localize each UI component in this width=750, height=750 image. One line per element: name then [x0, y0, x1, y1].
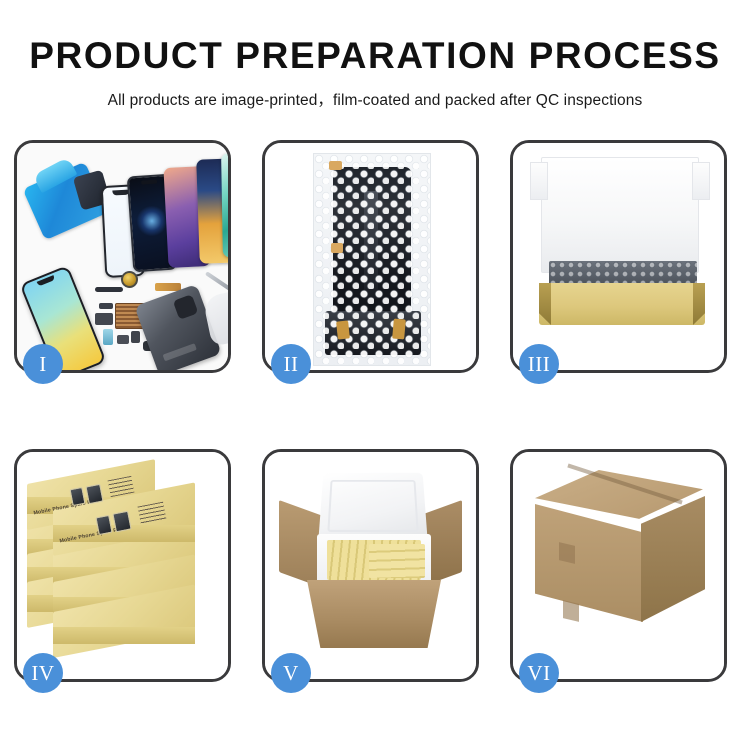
- step-panel-3[interactable]: III: [510, 140, 727, 373]
- step-panel-2[interactable]: II: [262, 140, 479, 373]
- stacked-box-front-3: [53, 612, 195, 644]
- box-side-face: [53, 627, 195, 644]
- flex-cable-part-3: [95, 313, 113, 325]
- box-label-screen-a2: [85, 484, 103, 505]
- step-badge-4: IV: [23, 653, 63, 693]
- step-panel-5[interactable]: V: [262, 449, 479, 682]
- carton-right-face: [641, 496, 705, 622]
- tape-piece-3: [336, 320, 350, 339]
- bar-part: [95, 287, 123, 292]
- chip-part-7: [99, 303, 113, 309]
- page-subtitle: All products are image-printed，film-coat…: [0, 88, 750, 110]
- infographic-page: PRODUCT PREPARATION PROCESS All products…: [0, 0, 750, 750]
- carton-tape-1: [559, 542, 575, 564]
- step-panel-6[interactable]: VI: [510, 449, 727, 682]
- chip-part-4: [103, 329, 113, 345]
- step-image-2: [265, 143, 476, 370]
- step-image-5: [265, 452, 476, 679]
- step-badge-2: II: [271, 344, 311, 384]
- step-panel-4[interactable]: Mobile Phone Spare Parts Mobile Phone Sp…: [14, 449, 231, 682]
- header: PRODUCT PREPARATION PROCESS All products…: [0, 36, 750, 110]
- step-badge-5: V: [271, 653, 311, 693]
- tape-piece-4: [392, 319, 406, 340]
- step-image-6: [513, 452, 724, 679]
- box-lid-white: [541, 157, 699, 273]
- step-image-4: Mobile Phone Spare Parts Mobile Phone Sp…: [17, 452, 228, 679]
- step-panel-1[interactable]: I: [14, 140, 231, 373]
- foam-cooler-lid: [318, 473, 427, 540]
- carton-front-panel: [307, 580, 441, 648]
- phone-teal: [221, 153, 228, 258]
- box-label-screen-b2: [112, 511, 131, 533]
- box-front-kraft: [539, 283, 705, 325]
- step-badge-6: VI: [519, 653, 559, 693]
- step-badge-3: III: [519, 344, 559, 384]
- carton-left-face: [535, 504, 643, 622]
- box-stack: Mobile Phone Spare Parts Mobile Phone Sp…: [23, 466, 223, 666]
- chip-part-3: [117, 335, 129, 344]
- process-grid: I II III: [14, 140, 736, 692]
- step-image-3: [513, 143, 724, 370]
- packed-yellow-boxes-2: [369, 544, 425, 578]
- page-title: PRODUCT PREPARATION PROCESS: [0, 36, 750, 77]
- step-image-1: [17, 143, 228, 370]
- carton-tape-2: [563, 600, 579, 622]
- tape-piece-2: [331, 243, 343, 253]
- step-badge-1: I: [23, 344, 63, 384]
- chip-part-2: [131, 331, 140, 343]
- speaker-coil-part: [121, 271, 138, 288]
- tape-piece-1: [329, 161, 342, 170]
- bubble-wrap-bag: [313, 153, 431, 366]
